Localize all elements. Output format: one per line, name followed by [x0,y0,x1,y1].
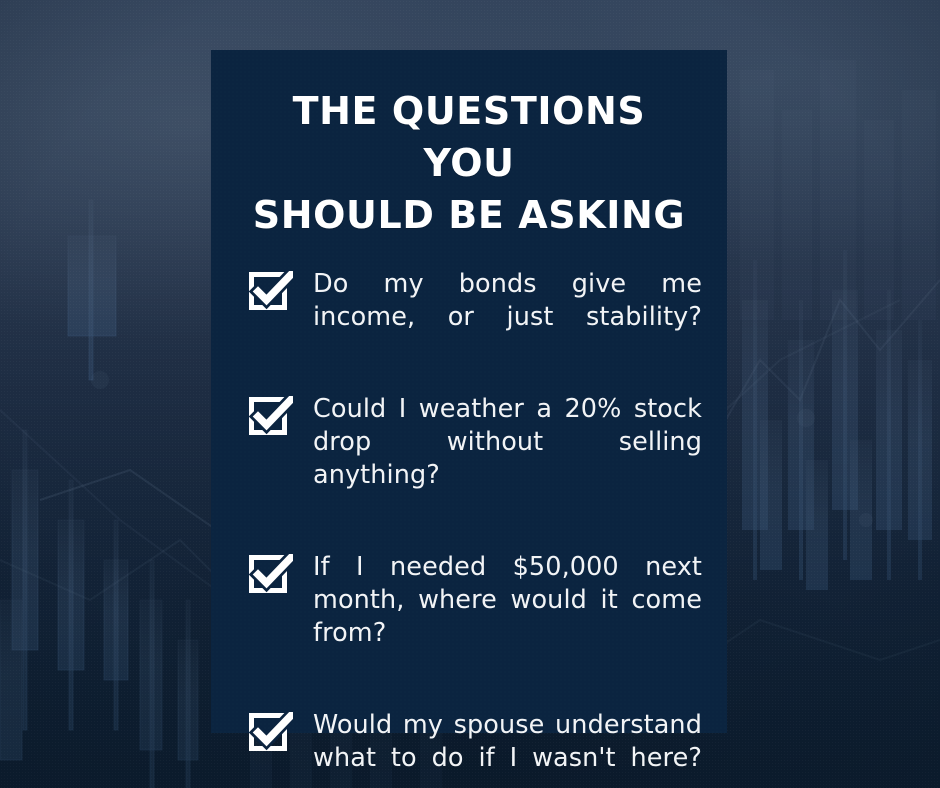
question-text: Would my spouse understand what to do if… [313,709,702,788]
question-text: Do my bonds give me income, or just stab… [313,268,702,367]
list-item: Do my bonds give me income, or just stab… [211,268,727,367]
questions-list: Do my bonds give me income, or just stab… [211,241,727,788]
content-panel: THE QUESTIONS YOU SHOULD BE ASKING Do my… [211,50,727,733]
infographic-canvas: THE QUESTIONS YOU SHOULD BE ASKING Do my… [0,0,940,788]
question-text: Could I weather a 20% stock drop without… [313,393,702,525]
checkbox-checked-icon [249,554,293,594]
list-item: If I needed $50,000 next month, where wo… [211,551,727,683]
list-item: Could I weather a 20% stock drop without… [211,393,727,525]
question-text: If I needed $50,000 next month, where wo… [313,551,702,683]
page-title: THE QUESTIONS YOU SHOULD BE ASKING [211,50,727,241]
checkbox-checked-icon [249,712,293,752]
list-item: Would my spouse understand what to do if… [211,709,727,788]
checkbox-checked-icon [249,271,293,311]
checkbox-checked-icon [249,396,293,436]
